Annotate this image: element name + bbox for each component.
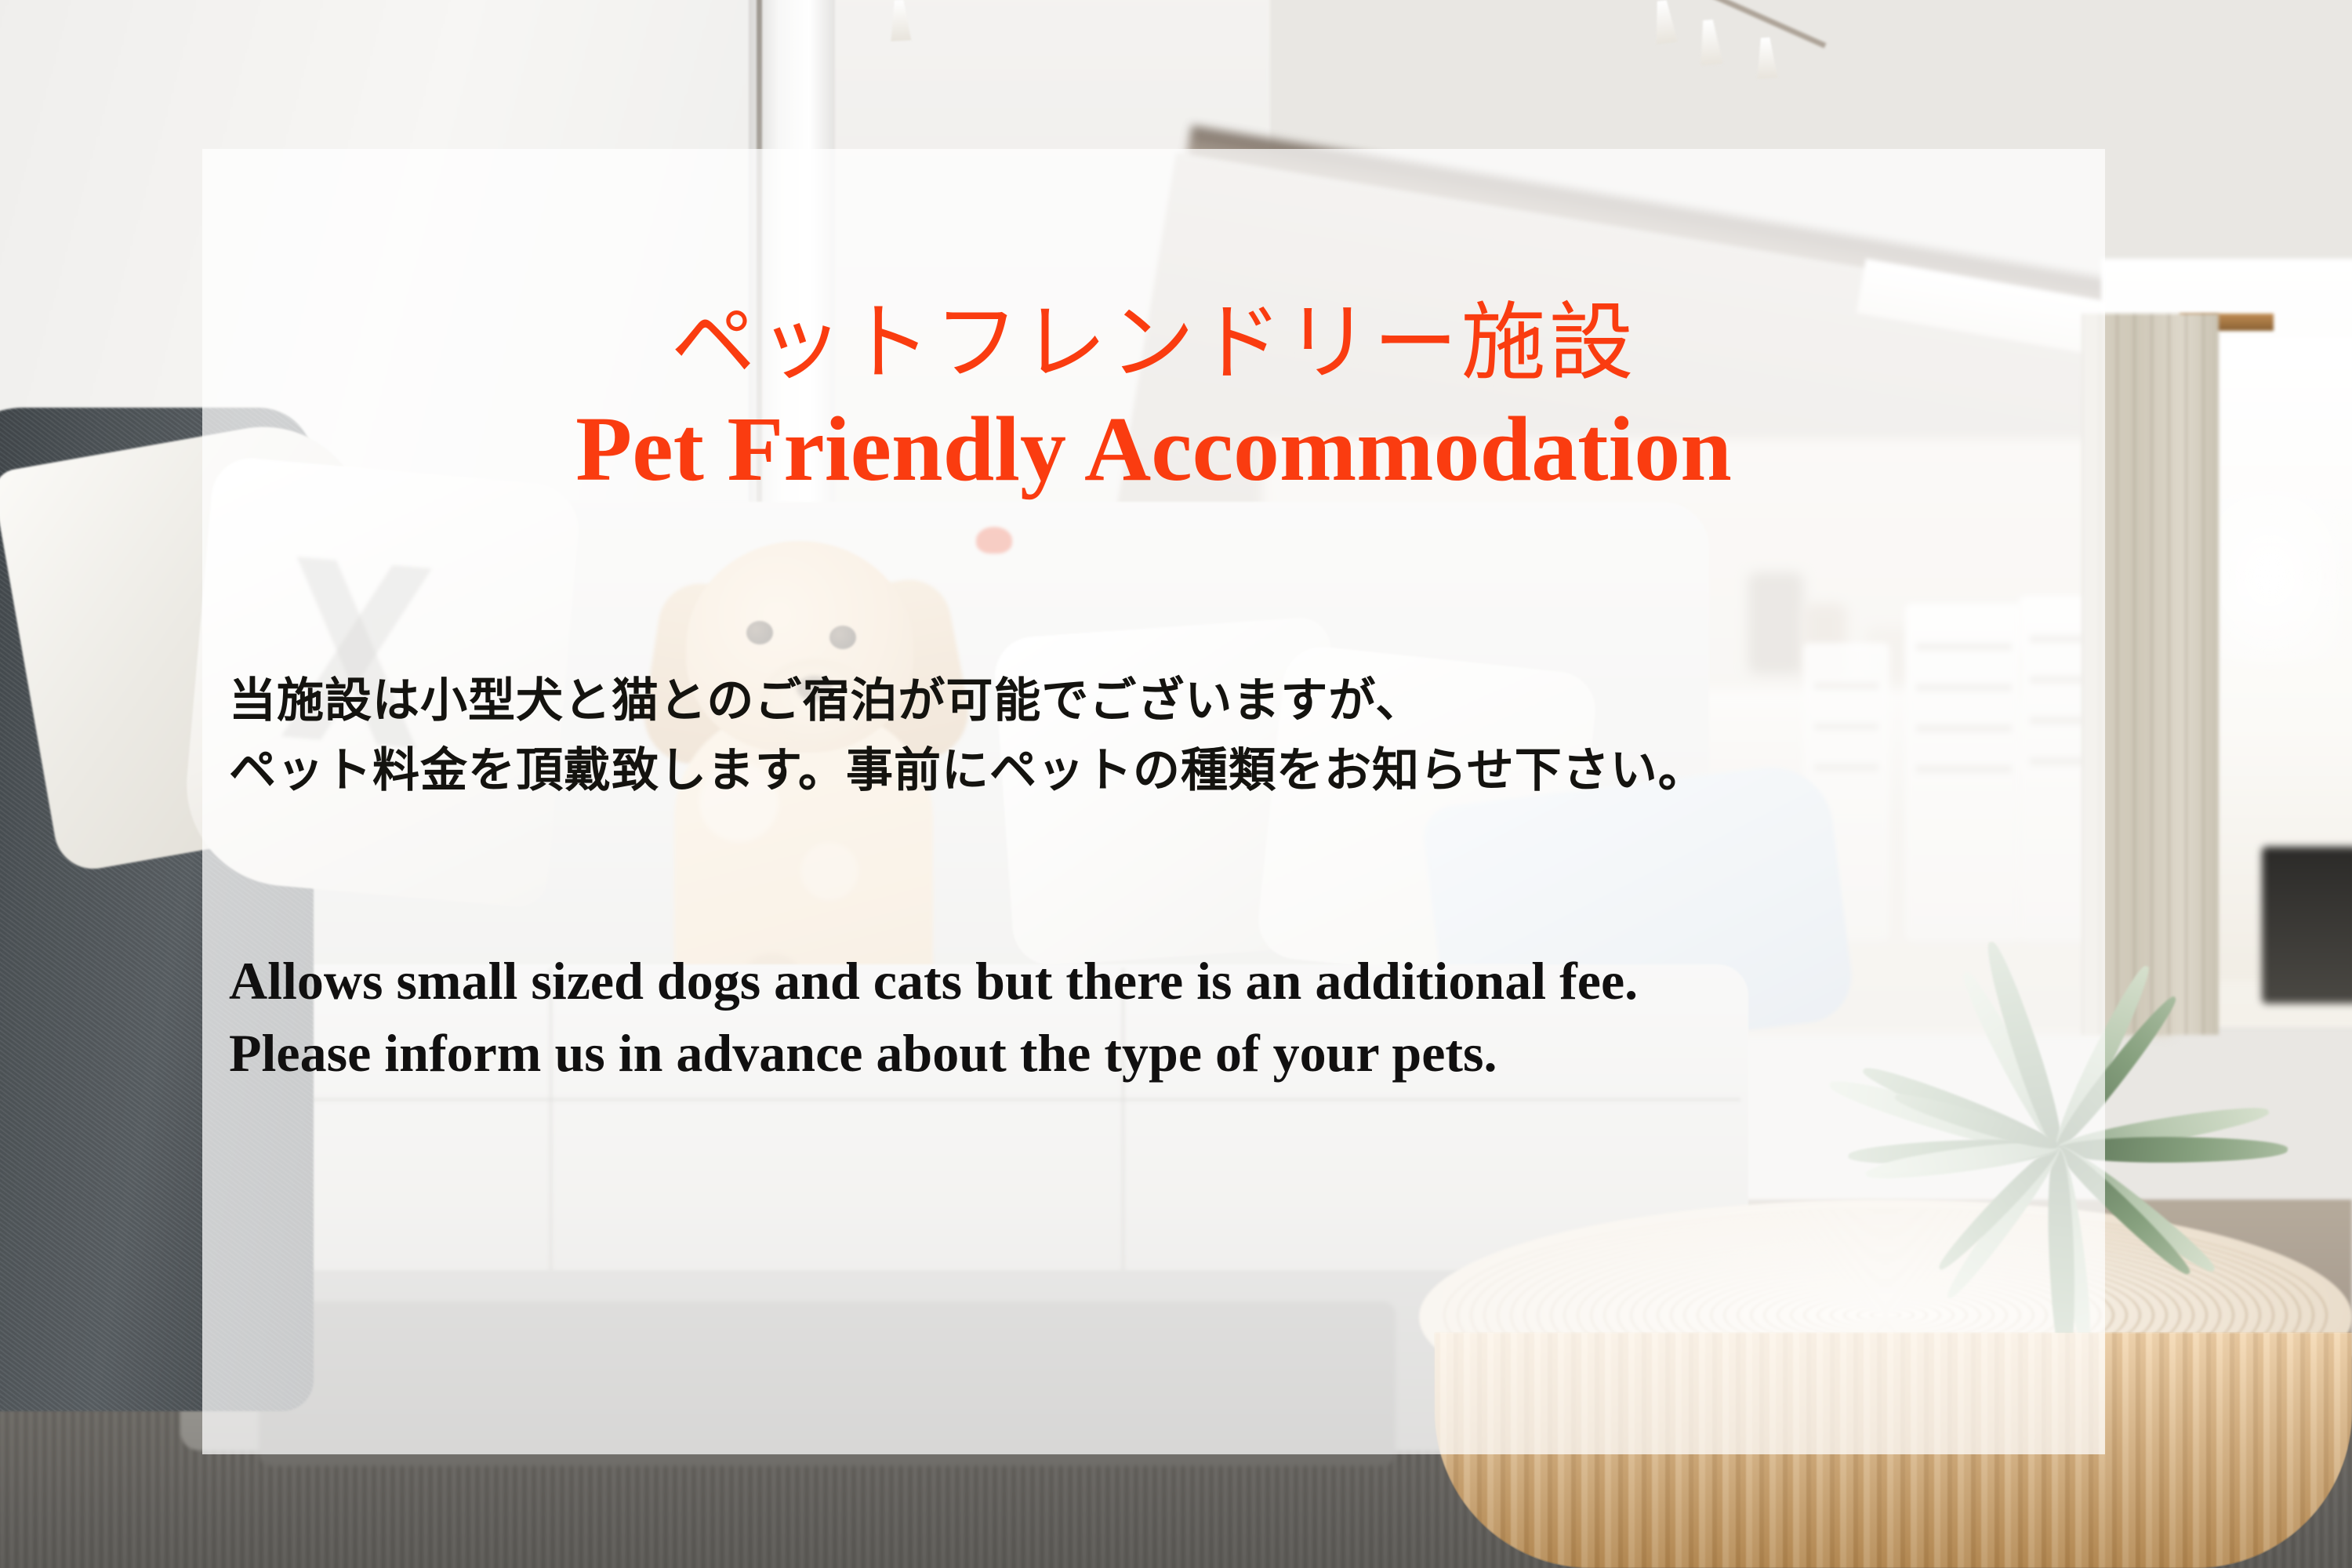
body-japanese-line-2: ペット料金を頂戴致します。事前にペットの種類をお知らせ下さい。	[229, 736, 2079, 806]
title-block: ペットフレンドリー施設 Pet Friendly Accommodation	[202, 298, 2105, 501]
title-japanese: ペットフレンドリー施設	[202, 298, 2105, 390]
poster-content: ペットフレンドリー施設 Pet Friendly Accommodation 当…	[202, 149, 2105, 1454]
title-english: Pet Friendly Accommodation	[202, 397, 2105, 501]
poster-canvas: ペットフレンドリー施設 Pet Friendly Accommodation 当…	[0, 0, 2352, 1568]
body-japanese-line-1: 当施設は小型犬と猫とのご宿泊が可能でございますが、	[229, 666, 2079, 736]
pendant-light-icon	[889, 0, 912, 42]
body-english-line-1: Allows small sized dogs and cats but the…	[229, 945, 2079, 1017]
body-japanese: 当施設は小型犬と猫とのご宿泊が可能でございますが、 ペット料金を頂戴致します。事…	[229, 666, 2079, 806]
track-light-icon	[1755, 37, 1778, 78]
body-english: Allows small sized dogs and cats but the…	[229, 945, 2079, 1090]
dark-furniture	[2262, 847, 2352, 1004]
body-english-line-2: Please inform us in advance about the ty…	[229, 1017, 2079, 1089]
track-light-icon	[1697, 19, 1722, 65]
